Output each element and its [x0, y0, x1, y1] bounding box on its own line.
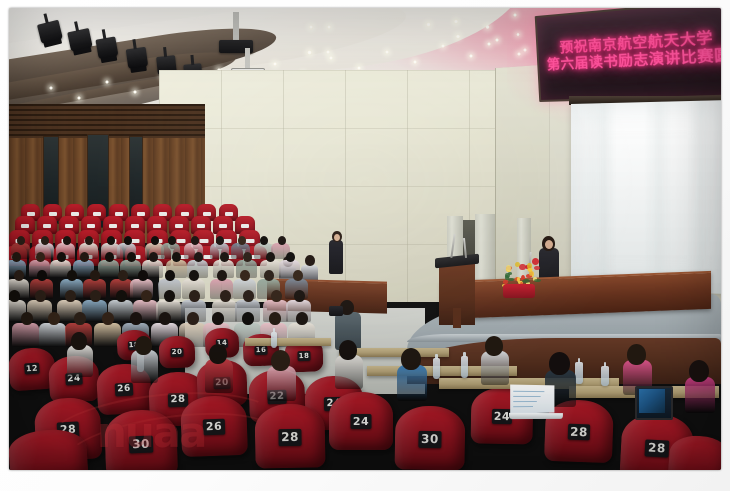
seat-number-plate	[21, 224, 29, 228]
water-bottle	[601, 366, 609, 386]
seat-number: 12	[24, 362, 40, 374]
seat-number: 26	[203, 419, 226, 436]
audience-person-head	[12, 252, 21, 262]
audience-person-head	[240, 270, 250, 281]
audience-person-head	[138, 270, 148, 281]
audience-person-head	[71, 332, 87, 350]
audience-person-body	[205, 359, 233, 393]
laptop-text-line	[513, 396, 540, 397]
laptop-text-line	[513, 406, 533, 407]
seat-number-plate	[219, 224, 227, 228]
audience-person-head	[269, 312, 281, 325]
audience-person-head	[189, 290, 200, 302]
camera-icon	[329, 306, 343, 316]
audience-person-head	[212, 312, 224, 325]
audience-person-head	[278, 236, 286, 245]
seat-number-plate	[87, 224, 95, 228]
seat-number: 28	[168, 393, 188, 408]
seat-number: 28	[568, 424, 591, 441]
seat-number-plate	[131, 224, 139, 228]
audience-person-body	[98, 260, 119, 278]
audience-person-head	[48, 312, 60, 325]
flower-petal	[532, 258, 539, 265]
monitor-screen	[639, 389, 665, 413]
audience-person-head	[220, 290, 231, 302]
seat-number-plate	[43, 224, 51, 228]
audience-person-head	[217, 270, 227, 281]
audience-person-body	[267, 366, 296, 401]
seat-number-plate	[175, 224, 183, 228]
audience-person-head	[135, 336, 152, 355]
audience-person-head	[74, 312, 86, 325]
water-bottle	[271, 332, 277, 348]
audience-person-body	[481, 351, 509, 385]
seat-number: 16	[254, 346, 267, 355]
audience-person-head	[187, 312, 199, 325]
water-bottle	[433, 358, 440, 379]
seat-number: 18	[297, 351, 310, 361]
seat-number: 26	[115, 383, 134, 397]
audience-person-head	[130, 312, 142, 325]
audience-person-head	[216, 236, 224, 245]
seat-number-plate	[241, 224, 249, 228]
seat-number: 20	[170, 348, 183, 357]
flower-petal	[528, 268, 532, 272]
audience-person-head	[401, 348, 421, 370]
audience-person-head	[286, 252, 295, 262]
audience-person-head	[238, 236, 246, 245]
audience-person-head	[339, 340, 357, 360]
audience-person-head	[243, 290, 254, 302]
seat-number-plate	[153, 224, 161, 228]
audience-person-head	[191, 236, 199, 245]
audience-person-head	[159, 312, 171, 325]
audience-person-head	[57, 252, 66, 262]
audience-person-head	[165, 270, 175, 281]
audience-person-head	[271, 290, 282, 302]
audience-person-head	[271, 350, 290, 371]
audience-person-head	[164, 290, 175, 302]
flower-base	[503, 284, 535, 298]
audience-person-head	[549, 352, 570, 375]
flower-leaf	[522, 279, 530, 283]
audience-person-head	[65, 290, 76, 302]
audience-person-head	[189, 270, 199, 281]
seat-number: 24	[351, 414, 372, 429]
audience-person-head	[485, 336, 503, 356]
laptop-text-line	[513, 391, 544, 392]
audience-person-head	[689, 360, 709, 382]
audience-person-head	[67, 270, 77, 281]
audience-person-head	[124, 236, 132, 245]
lectern-stem	[453, 308, 461, 328]
audience-seat: 30	[394, 405, 465, 470]
audience-person-head	[63, 236, 71, 245]
flower-leaf	[505, 273, 509, 277]
audience-seat: 30	[104, 409, 178, 470]
seat-number-plate	[65, 224, 73, 228]
seat-number: 30	[129, 436, 154, 454]
flower-petal	[515, 262, 520, 267]
water-bottle	[575, 362, 583, 384]
audience-person-head	[264, 270, 274, 281]
audience-person-head	[220, 252, 229, 262]
audience-person-head	[36, 252, 45, 262]
audience-person-head	[242, 312, 254, 325]
seat-number-plate	[109, 224, 117, 228]
seat-number: 28	[278, 429, 301, 446]
audience-person-head	[194, 252, 203, 262]
audience-seat: 28	[254, 403, 325, 468]
audience-person-body	[335, 355, 363, 389]
audience-person-head	[21, 312, 33, 325]
foreground-seats: 1820141618122426282022242830262824302428…	[9, 326, 721, 470]
photograph: 预祝南京航空航天大学 第六届读书励志演讲比赛圆满成功 18	[9, 8, 721, 470]
laptop-screen	[510, 385, 554, 414]
standing-attendant-body	[329, 240, 343, 274]
audience-person-head	[9, 290, 20, 302]
laptop-text-line	[513, 401, 537, 402]
seat-number: 30	[418, 431, 441, 448]
audience-person-head	[243, 252, 252, 262]
water-bottle	[461, 356, 468, 378]
audience-person-head	[116, 290, 127, 302]
standing-attendant-face	[334, 234, 340, 241]
audience-person-head	[105, 252, 114, 262]
audience-person-body	[397, 365, 427, 401]
audience-person-head	[168, 236, 176, 245]
flower-leaf	[508, 278, 514, 282]
audience-person-body	[685, 377, 715, 413]
audience-seat: 20	[158, 335, 195, 368]
audience-person-head	[14, 270, 24, 281]
speaker-face	[545, 240, 553, 249]
audience-person-head	[627, 344, 646, 365]
audience-person-head	[127, 252, 136, 262]
seat-number-plate	[197, 224, 205, 228]
laptop-base	[509, 413, 563, 419]
audience-person-head	[118, 270, 128, 281]
audience-seat: 28	[544, 399, 614, 463]
photo-frame: 预祝南京航空航天大学 第六届读书励志演讲比赛圆满成功 18	[0, 0, 730, 491]
audience-person-head	[41, 236, 49, 245]
flower-petal	[506, 265, 511, 271]
audience-seat: 24	[329, 392, 393, 450]
audience-person-head	[151, 236, 159, 245]
audience-person-head	[260, 236, 268, 245]
flower-petal	[534, 266, 539, 270]
audience-person-head	[17, 236, 25, 245]
seat-number: 28	[644, 439, 669, 457]
audience-seat: 26	[180, 395, 248, 457]
audience-person-head	[296, 312, 308, 325]
audience-person-head	[293, 270, 303, 281]
audience-desk	[245, 338, 331, 346]
audience-person-head	[209, 344, 227, 364]
